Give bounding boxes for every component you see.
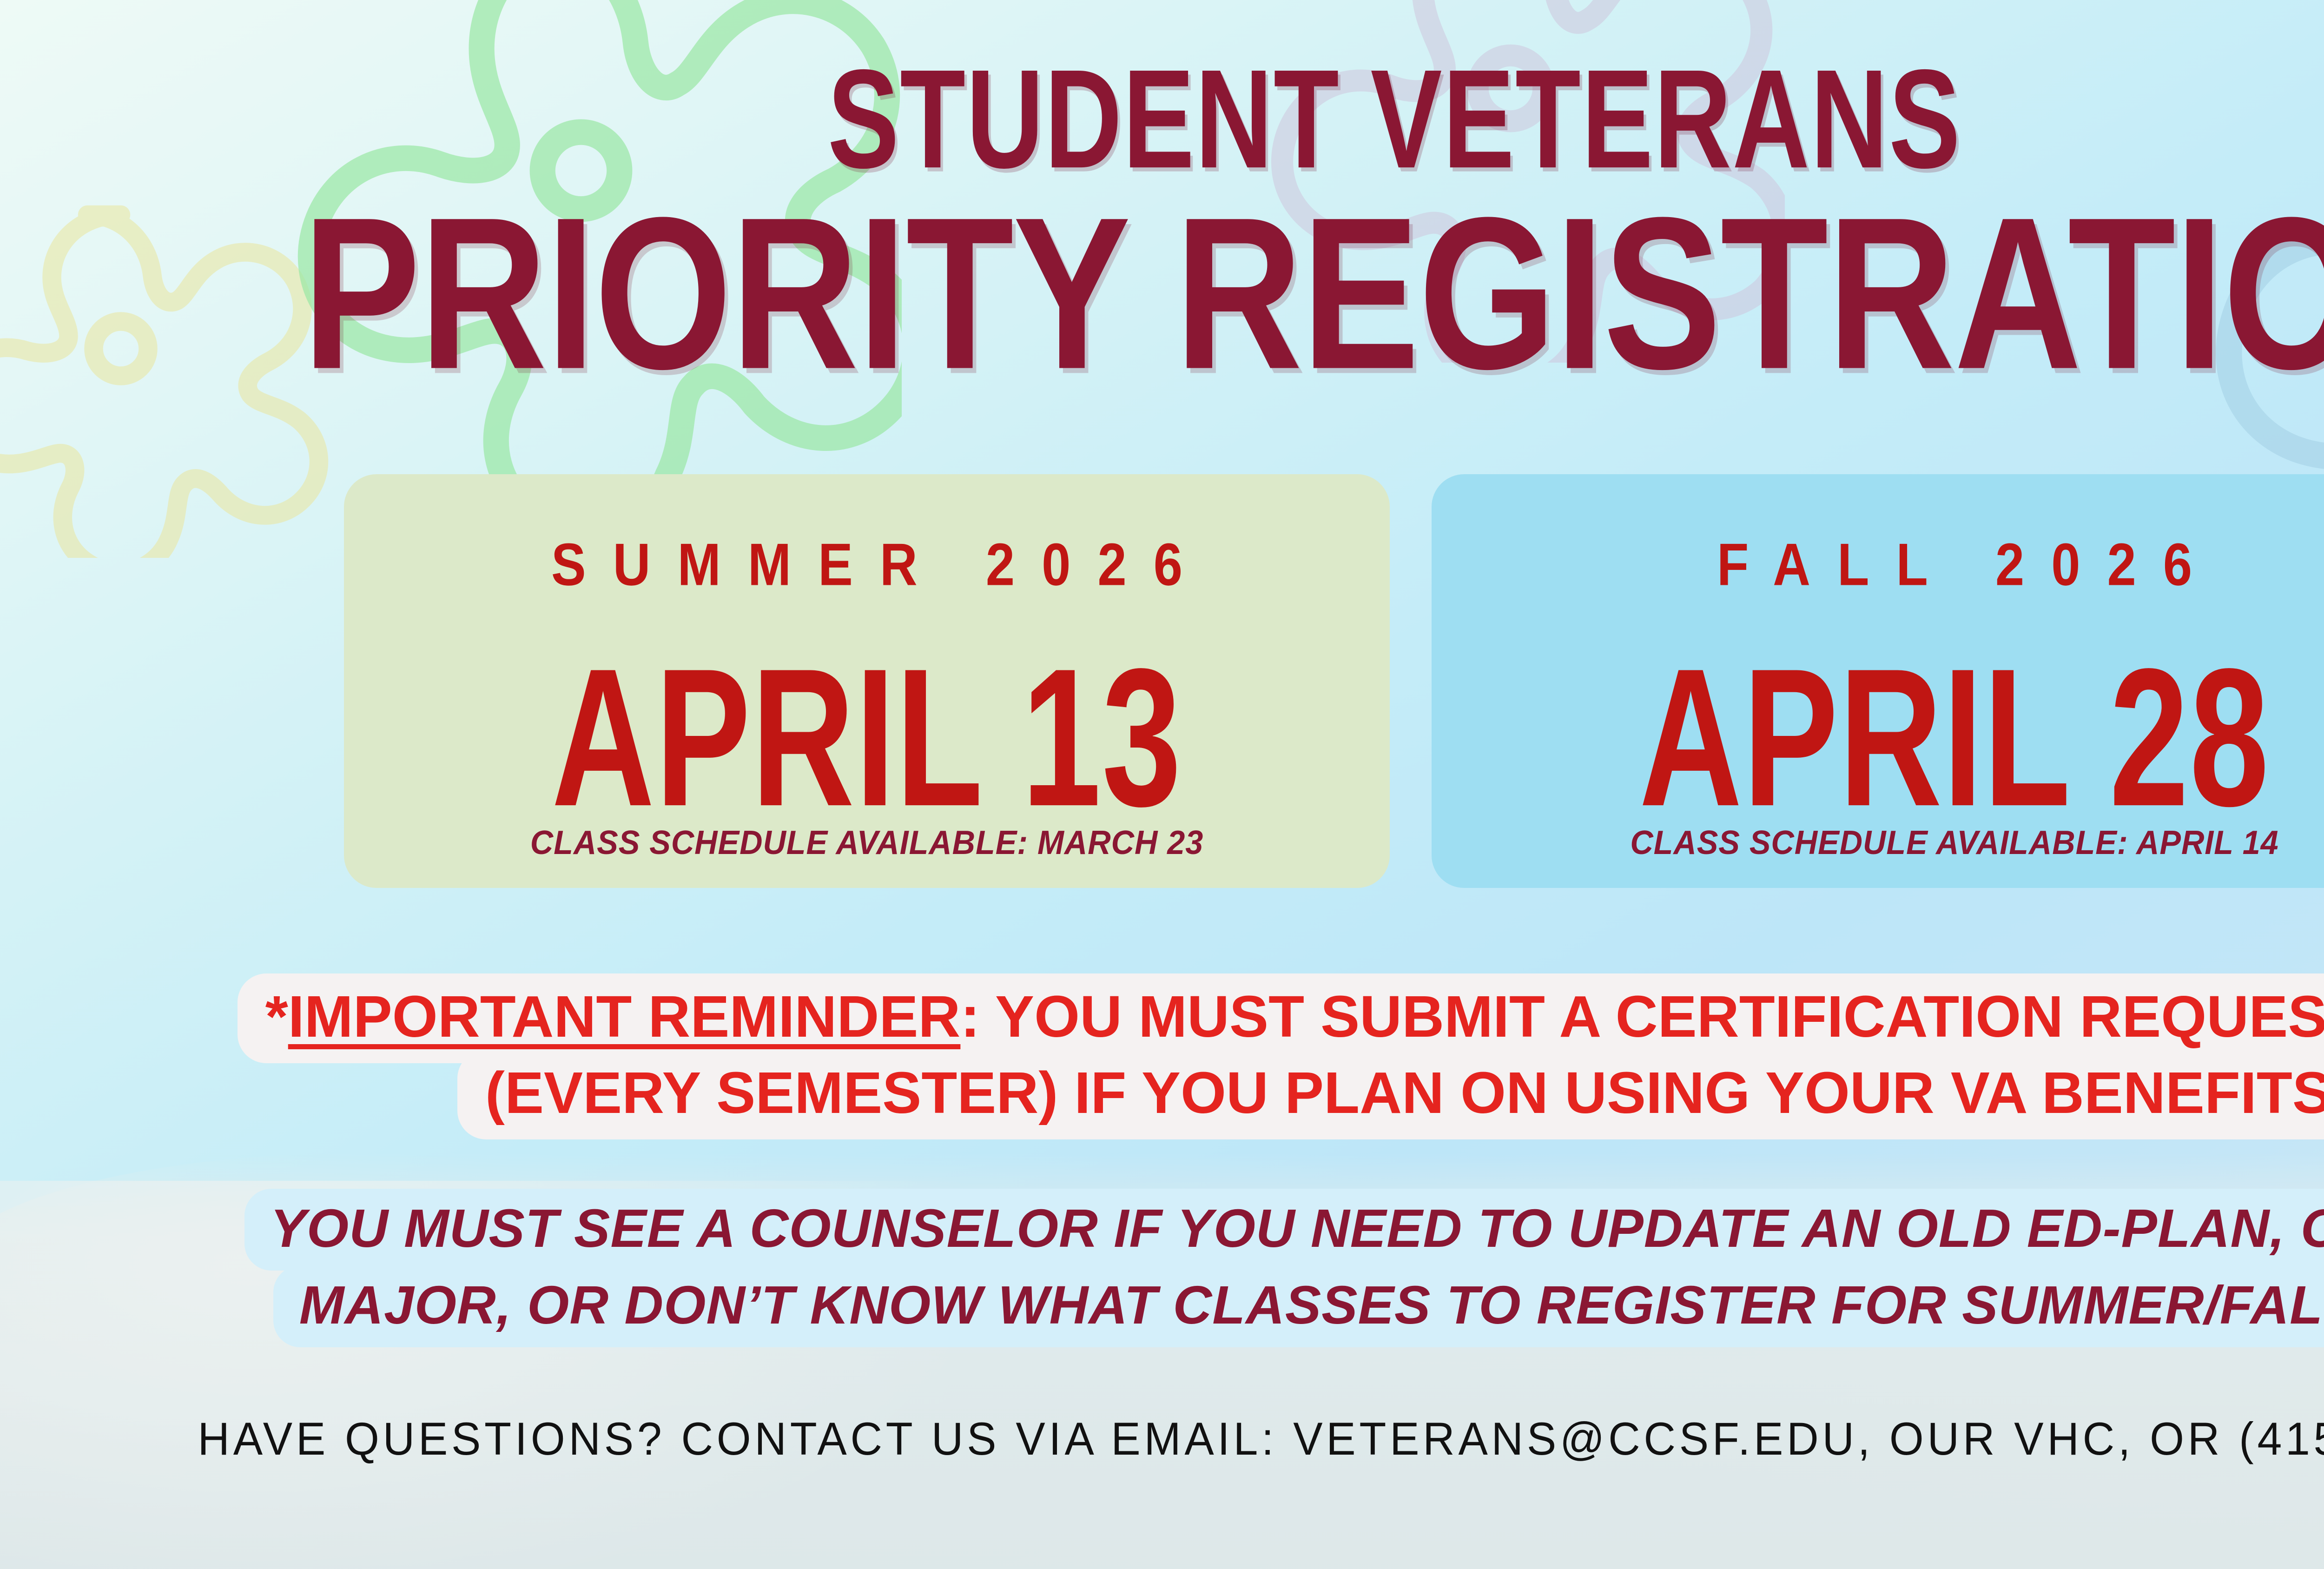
term-note-fall: CLASS SCHEDULE AVAILABLE: APRIL 14: [1458, 824, 2324, 862]
title-line-priority-registration: PRIORITY REGISTRATION: [28, 188, 2324, 400]
contact-info-line: HAVE QUESTIONS? CONTACT US VIA EMAIL: VE…: [56, 1412, 2324, 1465]
term-label-fall: FALL 2026: [1432, 530, 2324, 599]
term-cards-row: SUMMER 2026 APRIL 13 CLASS SCHEDULE AVAI…: [344, 474, 2324, 888]
important-reminder-banner: *IMPORTANT REMINDER: YOU MUST SUBMIT A C…: [232, 979, 2324, 1131]
term-note-summer: CLASS SCHEDULE AVAILABLE: MARCH 23: [370, 824, 1364, 862]
term-card-summer: SUMMER 2026 APRIL 13 CLASS SCHEDULE AVAI…: [344, 474, 1390, 888]
term-date-fall: APRIL 28: [1468, 639, 2324, 835]
page-title: STUDENT VETERANS PRIORITY REGISTRATION: [0, 51, 2324, 364]
counselor-notice-banner: YOU MUST SEE A COUNSELOR IF YOU NEED TO …: [158, 1190, 2324, 1343]
reminder-emphasis: IMPORTANT REMINDER: [288, 984, 961, 1049]
term-date-summer: APRIL 13: [381, 639, 1353, 835]
poster-canvas: STUDENT VETERANS PRIORITY REGISTRATION S…: [0, 0, 2324, 1569]
term-label-summer: SUMMER 2026: [344, 530, 1390, 599]
counselor-text: YOU MUST SEE A COUNSELOR IF YOU NEED TO …: [244, 1189, 2324, 1347]
term-card-fall: FALL 2026 APRIL 28 CLASS SCHEDULE AVAILA…: [1432, 474, 2324, 888]
reminder-asterisk: *: [265, 984, 288, 1049]
reminder-text: *IMPORTANT REMINDER: YOU MUST SUBMIT A C…: [238, 973, 2324, 1139]
title-line-student-veterans: STUDENT VETERANS: [98, 51, 2324, 186]
